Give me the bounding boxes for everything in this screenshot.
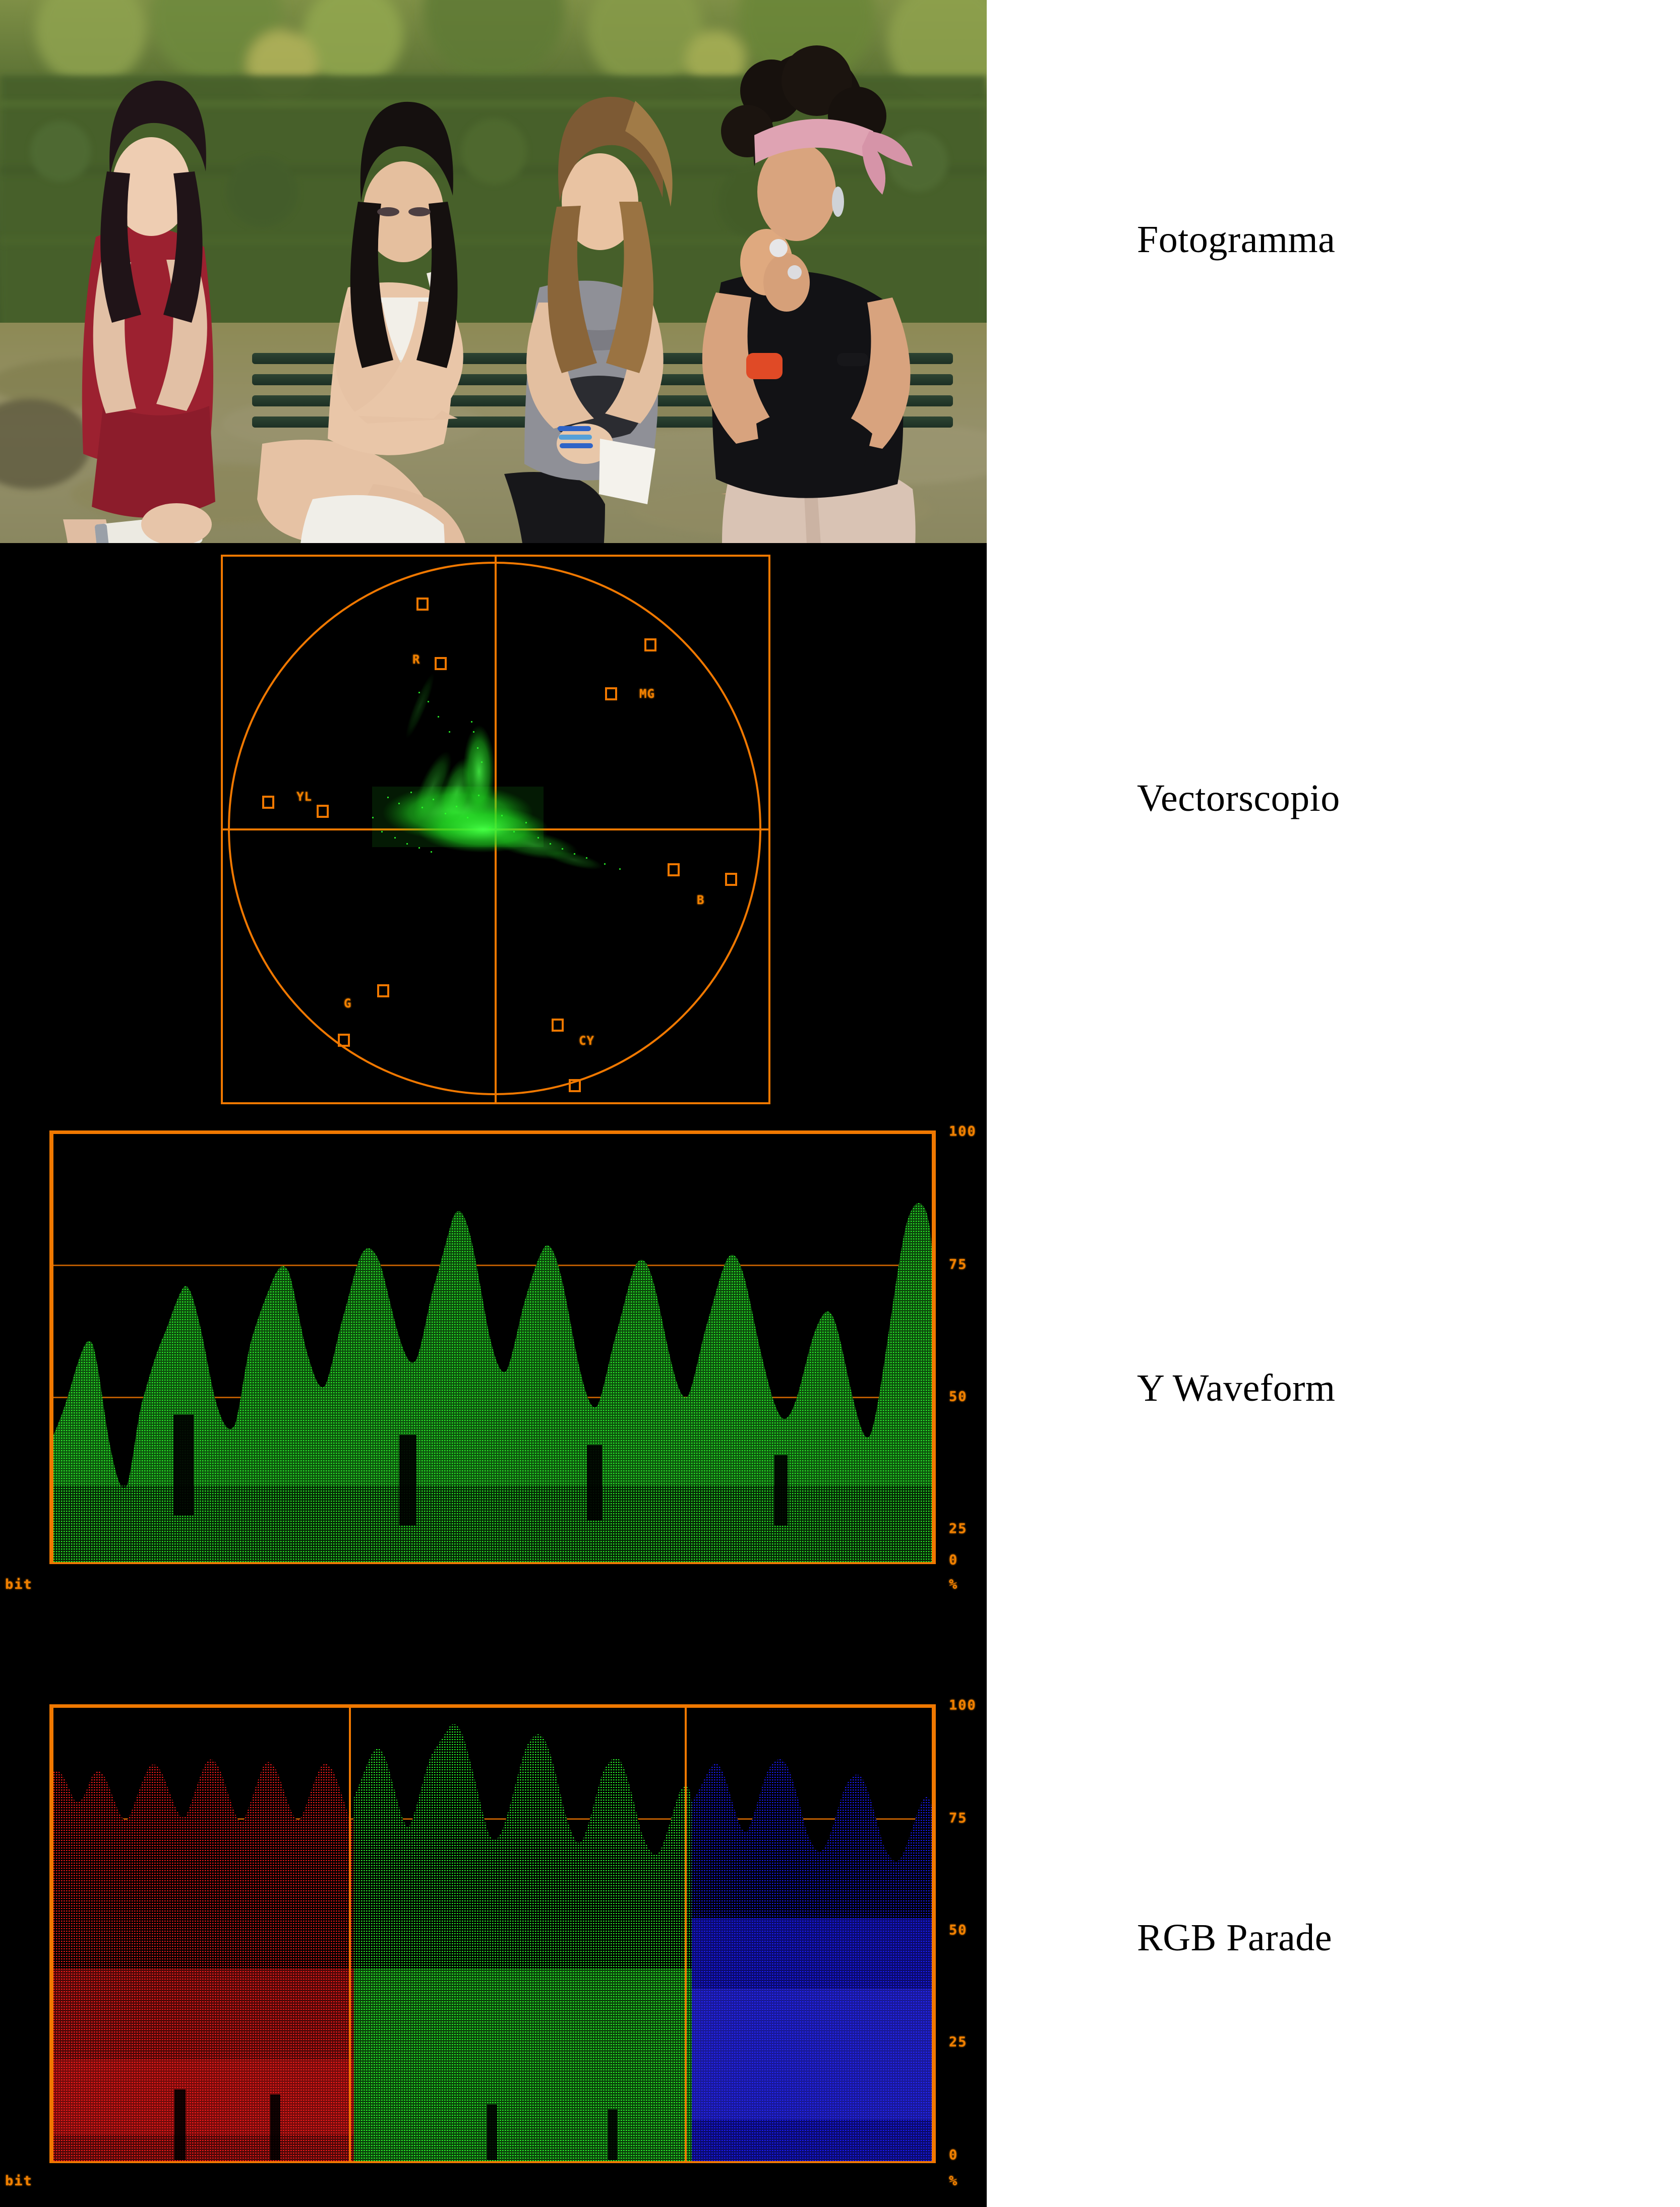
rgb-parade-pct-100: 100 <box>949 1698 977 1713</box>
parade-divider-gb <box>685 1706 687 2161</box>
frame-photo-image <box>0 0 987 543</box>
rgb-parade-unit-percent: % <box>949 2173 958 2189</box>
caption-rgb-parade: RGB Parade <box>1137 1916 1332 1960</box>
rgb-parade-left-axis <box>49 1704 52 2163</box>
y-waveform-trace <box>53 1132 932 1562</box>
vectorscope-label-g: G <box>344 996 351 1010</box>
y-waveform-left-axis <box>49 1130 52 1564</box>
vectorscope-label-yl: YL <box>296 790 312 804</box>
rgb-parade-pct-75: 75 <box>949 1811 968 1826</box>
scope-column: R MG YL B G CY <box>0 0 987 2207</box>
vectorscope-target-cy-inner <box>552 1019 564 1032</box>
vectorscope-target-yl-inner <box>317 805 329 818</box>
vectorscope-target-g-inner <box>377 984 389 997</box>
vectorscope-label-b: B <box>697 893 704 907</box>
y-waveform-panel: 235 180 125 70 16 bit 100 75 50 25 0 % <box>51 1130 934 1564</box>
rgb-parade-plot <box>53 1706 932 2161</box>
y-waveform-right-axis <box>933 1130 936 1564</box>
vectorscope-trace <box>221 555 770 1104</box>
caption-fotogramma: Fotogramma <box>1137 218 1335 262</box>
y-waveform-pct-25: 25 <box>949 1521 968 1537</box>
vectorscope-target-r-inner <box>435 657 447 670</box>
y-waveform-pct-50: 50 <box>949 1389 968 1405</box>
vectorscope-target-yl-outer <box>262 796 274 809</box>
rgb-parade-trace <box>53 1706 932 2161</box>
rgb-parade-panel: 235 180 50 70 16 bit 100 75 50 25 0 % <box>51 1704 934 2163</box>
vectorscope-target-g-outer <box>338 1034 350 1047</box>
caption-vectorscopio: Vectorscopio <box>1137 777 1340 820</box>
vectorscope-target-b-inner <box>668 863 680 876</box>
vectorscope-target-r-outer <box>416 598 429 611</box>
vectorscope-target-b-outer <box>725 873 737 886</box>
frame-photo <box>0 0 987 543</box>
y-waveform-unit-percent: % <box>949 1577 958 1592</box>
rgb-parade-pct-0: 0 <box>949 2148 958 2163</box>
vectorscope-target-mg-outer <box>644 638 656 651</box>
vectorscope-panel: R MG YL B G CY <box>221 555 770 1104</box>
rgb-parade-pct-50: 50 <box>949 1923 968 1938</box>
y-waveform-plot <box>53 1132 932 1562</box>
caption-y-waveform: Y Waveform <box>1137 1366 1336 1410</box>
vectorscope-label-mg: MG <box>639 687 655 701</box>
y-waveform-unit-bit: bit <box>5 1577 33 1592</box>
vectorscope-label-r: R <box>412 652 420 667</box>
vectorscope-label-cy: CY <box>579 1034 594 1048</box>
y-waveform-pct-100: 100 <box>949 1124 977 1140</box>
y-waveform-pct-0: 0 <box>949 1553 958 1568</box>
rgb-parade-unit-bit: bit <box>5 2173 33 2189</box>
rgb-parade-pct-25: 25 <box>949 2035 968 2050</box>
rgb-parade-right-axis <box>933 1704 936 2163</box>
vectorscope-target-cy-outer <box>569 1079 581 1092</box>
y-waveform-pct-75: 75 <box>949 1257 968 1273</box>
vectorscope-target-mg-inner <box>605 687 617 700</box>
parade-divider-rg <box>349 1706 351 2161</box>
